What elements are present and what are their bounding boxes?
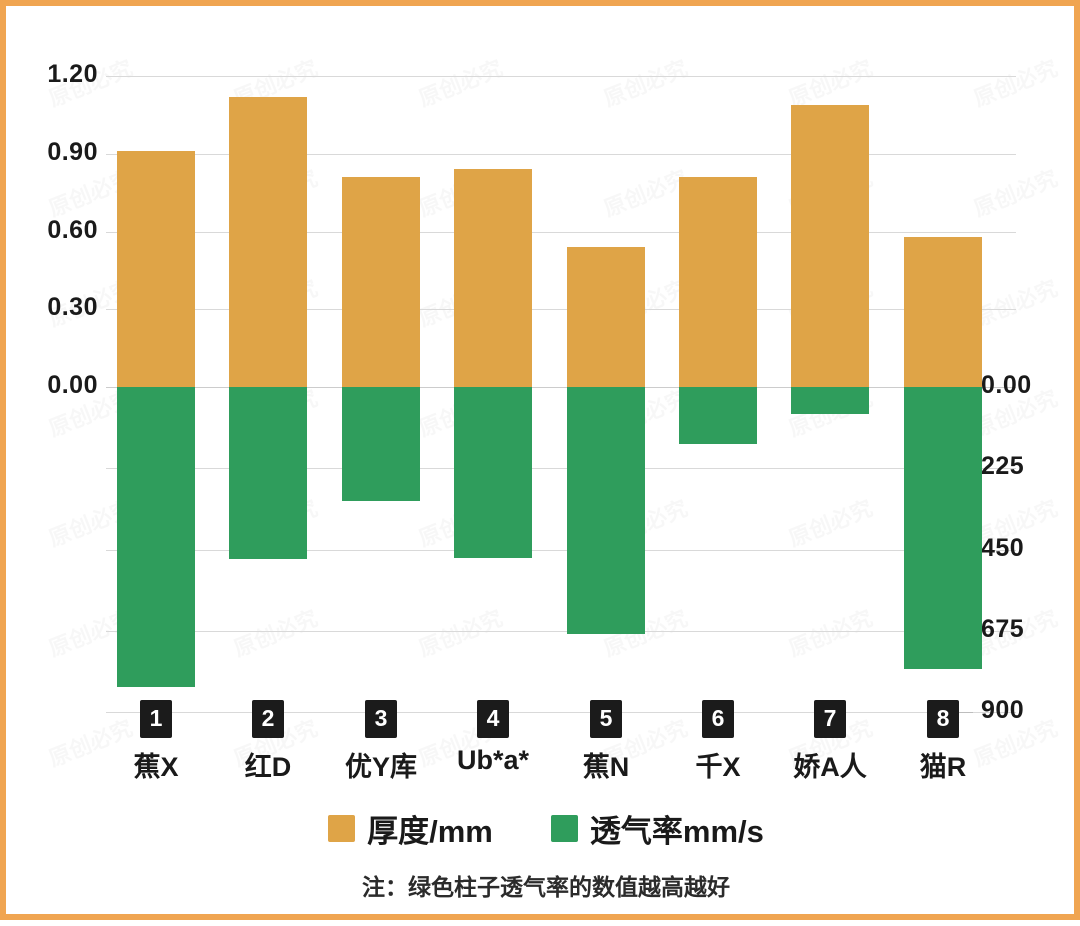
bar-thickness[interactable] <box>679 177 757 387</box>
bar-permeability[interactable] <box>342 387 420 501</box>
bar-thickness[interactable] <box>791 105 869 387</box>
legend-label: 透气率mm/s <box>590 806 764 851</box>
category-rank-badge: 5 <box>590 700 623 738</box>
bar-thickness[interactable] <box>117 151 195 387</box>
watermark-mark: 原创必究 <box>598 161 692 224</box>
bar-permeability[interactable] <box>567 387 645 634</box>
chart-frame: 原创必究原创必究原创必究原创必究原创必究原创必究原创必究原创必究原创必究原创必究… <box>0 0 1080 920</box>
legend-item-1[interactable]: 透气率mm/s <box>551 806 764 851</box>
bar-thickness[interactable] <box>229 97 307 387</box>
watermark-mark: 原创必究 <box>968 271 1062 334</box>
gridline-right-3 <box>106 631 1016 632</box>
y-axis-left-tick: 0.60 <box>6 216 98 245</box>
y-axis-right-tick: 0.00 <box>981 371 1032 400</box>
bar-thickness[interactable] <box>342 177 420 387</box>
watermark-mark: 原创必究 <box>783 51 877 114</box>
watermark-mark: 原创必究 <box>413 51 507 114</box>
y-axis-left-tick: 0.30 <box>6 293 98 322</box>
category-rank-badge: 7 <box>814 700 847 738</box>
legend-label: 厚度/mm <box>367 806 493 851</box>
watermark-mark: 原创必究 <box>783 491 877 554</box>
legend-swatch-thickness <box>328 815 355 842</box>
category-rank-badge: 4 <box>477 700 510 738</box>
category-rank-badge: 2 <box>252 700 285 738</box>
y-axis-right-tick: 675 <box>981 615 1024 644</box>
chart-legend: 厚度/mm透气率mm/s <box>6 806 1080 851</box>
y-axis-left-tick: 1.20 <box>6 60 98 89</box>
y-axis-right-tick: 450 <box>981 534 1024 563</box>
bar-permeability[interactable] <box>454 387 532 558</box>
bar-permeability[interactable] <box>117 387 195 687</box>
watermark-mark: 原创必究 <box>598 51 692 114</box>
y-axis-right-tick: 225 <box>981 452 1024 481</box>
bar-permeability[interactable] <box>904 387 982 669</box>
bar-permeability[interactable] <box>679 387 757 444</box>
category-label: 猫R <box>868 745 1018 784</box>
category-rank-badge: 8 <box>927 700 960 738</box>
x-axis-category-8[interactable]: 8猫R <box>868 700 1018 784</box>
chart-footnote: 注：绿色柱子透气率的数值越高越好 <box>6 868 1080 902</box>
legend-swatch-permeability <box>551 815 578 842</box>
bar-thickness[interactable] <box>454 169 532 387</box>
category-rank-badge: 6 <box>702 700 735 738</box>
watermark-mark: 原创必究 <box>413 601 507 664</box>
chart-plot-area: 原创必究原创必究原创必究原创必究原创必究原创必究原创必究原创必究原创必究原创必究… <box>6 6 1080 926</box>
watermark-mark: 原创必究 <box>968 161 1062 224</box>
watermark-mark: 原创必究 <box>783 601 877 664</box>
y-axis-left-tick: 0.90 <box>6 138 98 167</box>
bar-permeability[interactable] <box>229 387 307 559</box>
category-rank-badge: 3 <box>365 700 398 738</box>
category-rank-badge: 1 <box>140 700 173 738</box>
legend-item-0[interactable]: 厚度/mm <box>328 806 493 851</box>
bar-thickness[interactable] <box>567 247 645 387</box>
watermark-mark: 原创必究 <box>968 51 1062 114</box>
y-axis-left-tick: 0.00 <box>6 371 98 400</box>
bar-thickness[interactable] <box>904 237 982 387</box>
bar-permeability[interactable] <box>791 387 869 414</box>
watermark-mark: 原创必究 <box>228 601 322 664</box>
gridline-left-0 <box>106 76 1016 77</box>
